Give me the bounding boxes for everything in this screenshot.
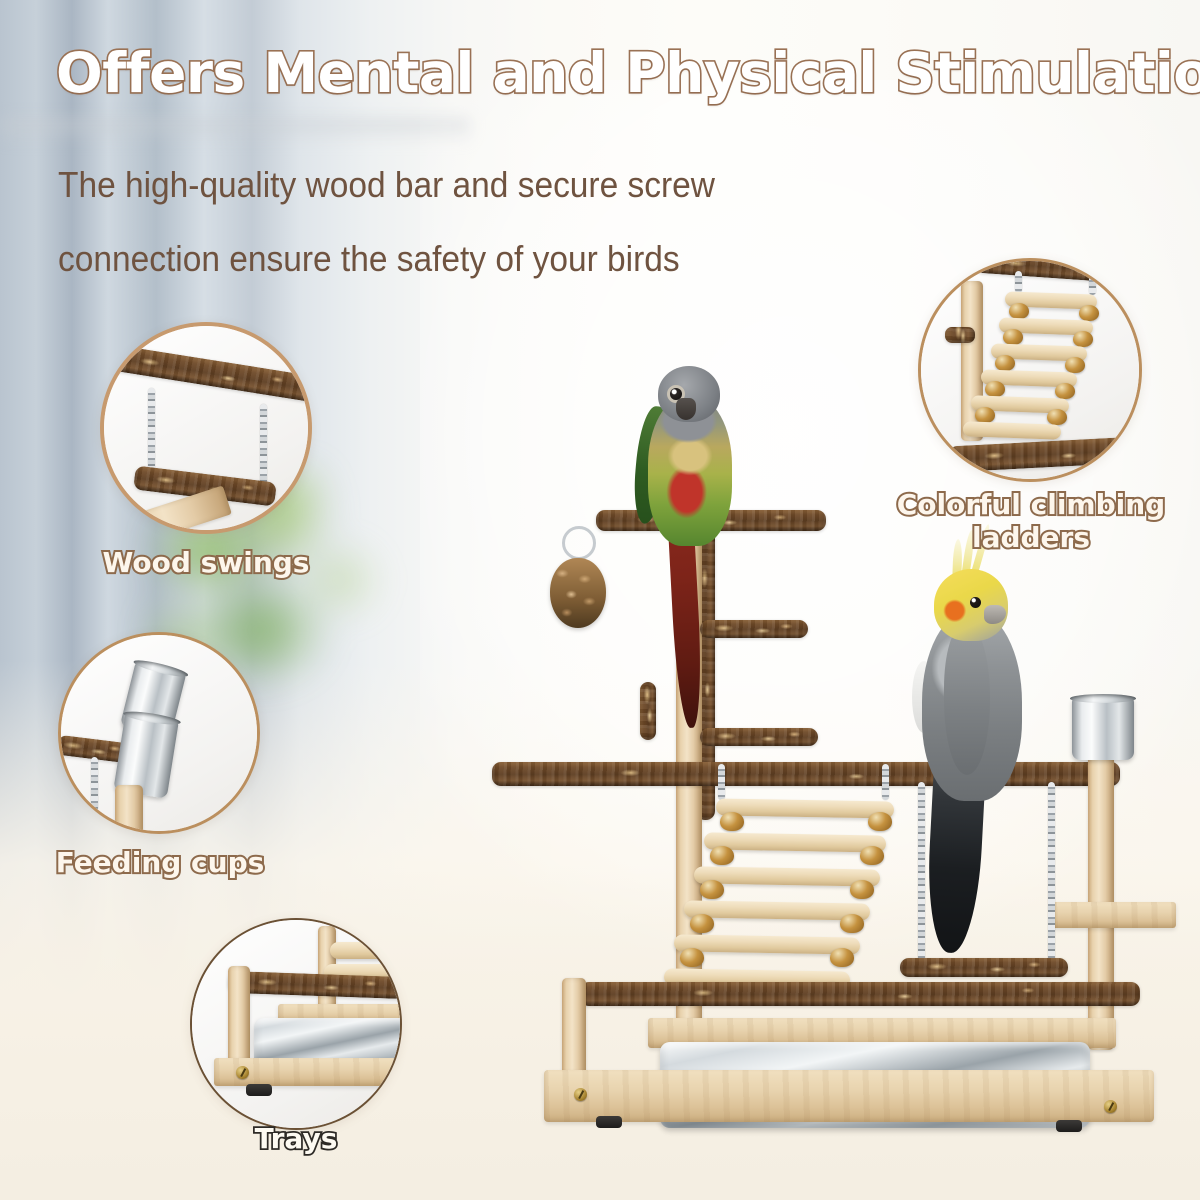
ladder-bead [710,846,734,865]
perch-main-lower [580,982,1140,1006]
callout-bubble-feeding-cups [58,632,260,834]
ladder-bead [868,812,892,831]
base-foot-right [1056,1120,1082,1132]
base-platform [544,1070,1154,1122]
ladder-bead [1055,383,1075,399]
ladder-post-stub [945,327,975,343]
left-post [562,978,586,1082]
base-screw-left [574,1088,587,1101]
ladder-bead [840,914,864,933]
cockatiel-eye [970,597,981,608]
ladder-bead [975,407,995,423]
tray-base-screw [236,1066,249,1079]
cockatiel-wing [944,625,990,775]
callout-label-feeding-cups: Feeding cups [10,846,310,879]
perch-stub-upper [640,682,656,740]
subheading-line-1: The high-quality wood bar and secure scr… [58,148,821,222]
ladder-bead [1079,305,1099,321]
callout-label-wood-swings: Wood swings [10,546,402,579]
swing-chain-right-b [1048,782,1055,962]
pinecone-toy [550,558,606,628]
base-screw-right [1104,1100,1117,1113]
subheading-line-2: connection ensure the safety of your bir… [58,222,821,296]
callout-bubble-wood-swings [100,322,312,534]
ladder-bead [680,948,704,967]
callout-bubble-climbing-ladders [918,258,1142,482]
toy-hanging-ring [562,526,596,560]
page-subheading: The high-quality wood bar and secure scr… [58,148,821,296]
callout-label-trays: Trays [196,1122,396,1155]
conure-beak [676,398,696,420]
ladder-bead [830,948,854,967]
ladder-bubble-chain-left [1015,271,1022,293]
background-shelf [0,118,470,144]
ladder-bead [720,812,744,831]
ladder-bead [850,880,874,899]
ladder-bead [860,846,884,865]
cup-support-post [115,785,143,834]
feeding-cup-right [1072,698,1134,760]
ladder-bead [690,914,714,933]
ladder-chain-left [718,764,725,800]
swing-chain-right [260,404,267,484]
page-headline: Offers Mental and Physical Stimulation [56,42,1146,104]
cup-chain [91,757,98,811]
ladder-bead [1003,329,1023,345]
callout-label-climbing-ladders: Colorful climbing ladders [876,488,1186,554]
ladder-bubble-chain-right [1089,275,1096,295]
ladder-bead [995,355,1015,371]
base-foot-left [596,1116,622,1128]
tray-ladder-rung [330,942,396,959]
perch-side-upper [700,620,808,638]
ladder-bead [1009,303,1029,319]
right-crossbar [1052,902,1176,928]
perch-side-mid [700,728,818,746]
ladder-bead [1065,357,1085,373]
ladder-rung [716,798,894,818]
ladder-bead [1047,409,1067,425]
ladder-bead [1073,331,1093,347]
tray-foot [246,1084,272,1096]
ladder-bead [985,381,1005,397]
ladder-bead [700,880,724,899]
ladder-chain-right [882,764,889,800]
callout-bubble-trays [190,918,402,1130]
